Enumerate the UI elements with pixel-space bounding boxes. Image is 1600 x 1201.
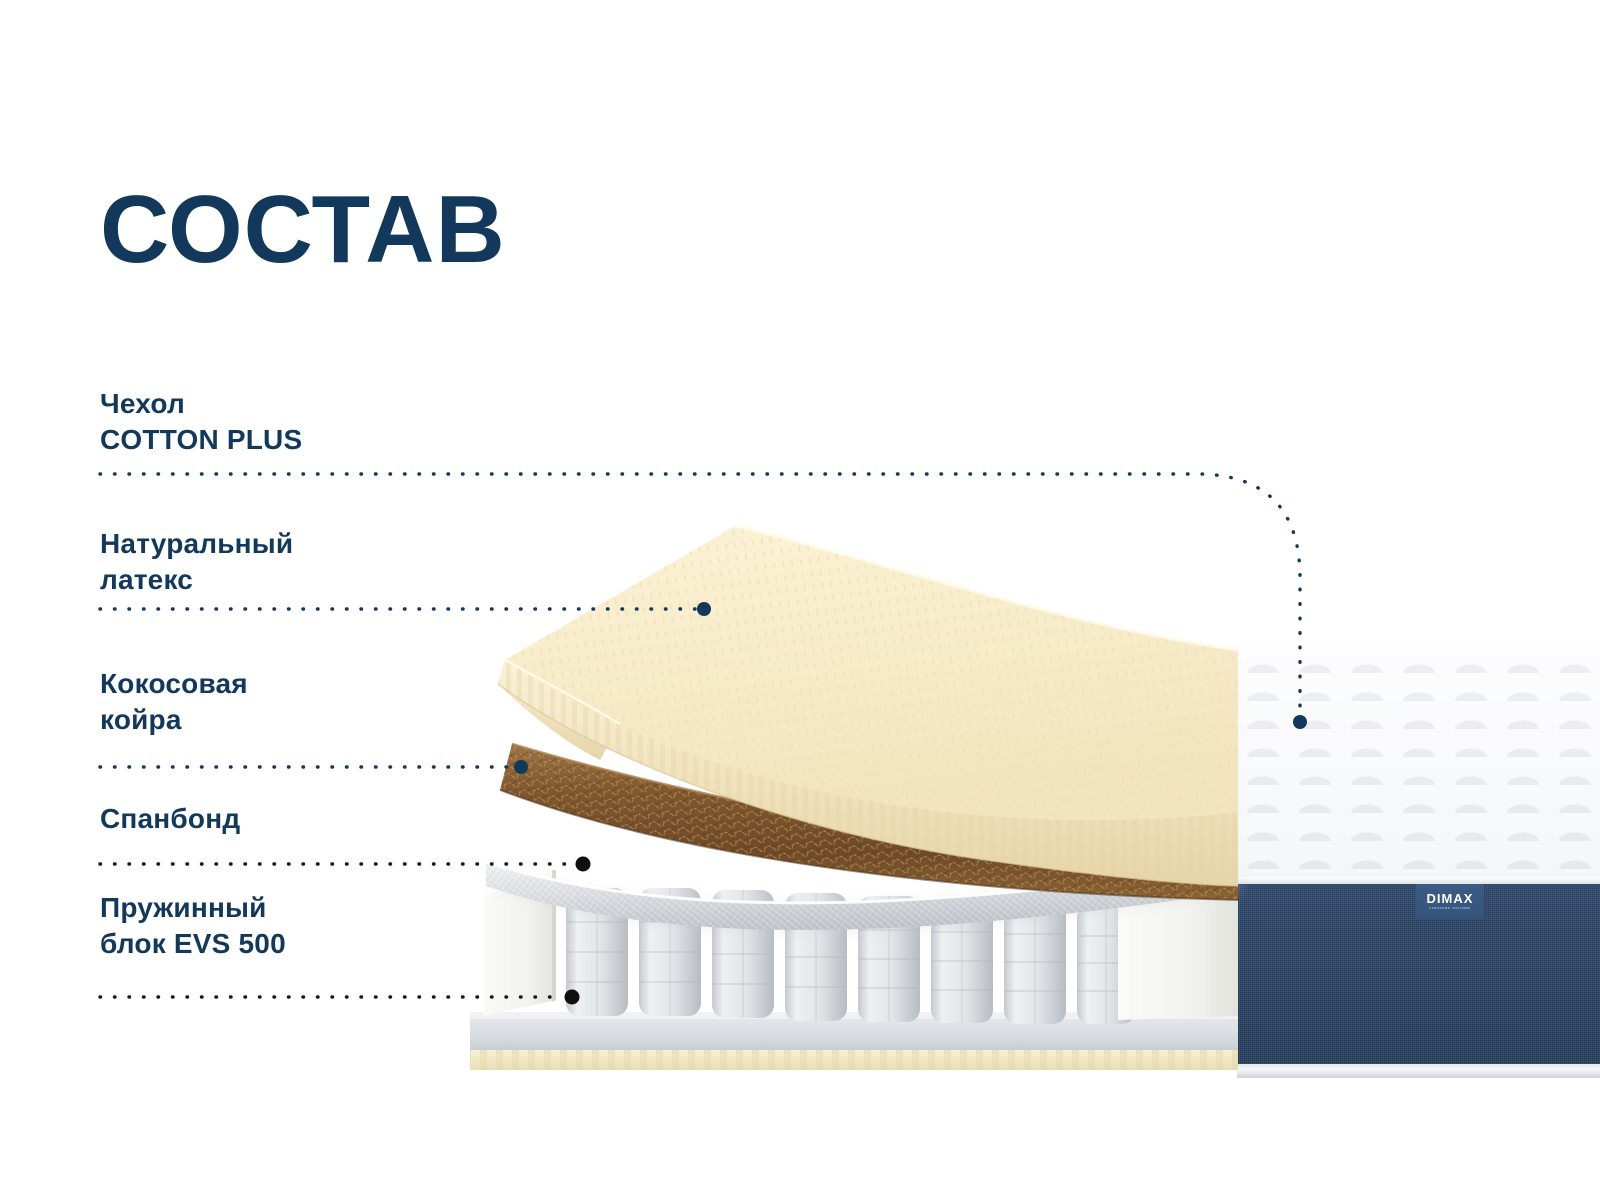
legend-label-coir: Кокосовая койра	[100, 666, 460, 737]
legend-item-cover: Чехол COTTON PLUS	[100, 386, 460, 457]
legend-item-latex: Натуральный латекс	[100, 526, 460, 597]
pocket-springs	[566, 888, 1135, 1024]
legend-label-spunbond: Спанбонд	[100, 801, 460, 837]
mattress-side-piping	[1237, 1064, 1600, 1078]
spring-block	[484, 870, 1238, 1024]
spunbond-layer	[486, 862, 1238, 930]
mattress-cover-top	[1237, 645, 1600, 883]
legend-label-springs: Пружинный блок EVS 500	[100, 890, 460, 961]
coir-layer	[500, 744, 1238, 900]
dimax-brand-name: DIMAX	[1427, 892, 1474, 905]
legend-label-cover: Чехол COTTON PLUS	[100, 386, 460, 457]
poster-root: СОСТАВ DIMAX спальные системы	[0, 0, 1600, 1201]
legend-item-spunbond: Спанбонд	[100, 801, 460, 837]
legend-item-springs: Пружинный блок EVS 500	[100, 890, 460, 961]
dimax-brand-subtitle: спальные системы	[1429, 907, 1470, 910]
dimax-brand-label: DIMAX спальные системы	[1416, 884, 1484, 919]
mattress-illustration: DIMAX спальные системы	[0, 0, 1600, 1201]
legend-item-coir: Кокосовая койра	[100, 666, 460, 737]
mattress-base	[470, 1012, 1238, 1070]
legend-label-latex: Натуральный латекс	[100, 526, 460, 597]
latex-layer	[498, 526, 1238, 886]
